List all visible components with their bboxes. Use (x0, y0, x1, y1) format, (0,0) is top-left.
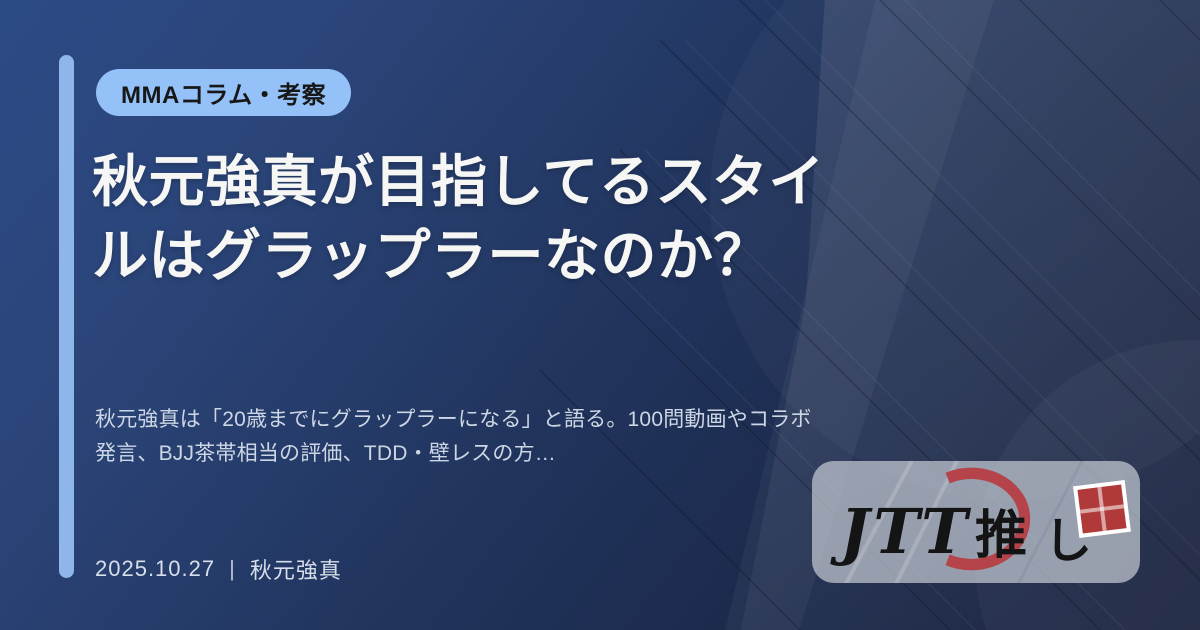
left-accent-bar (59, 55, 74, 578)
meta-separator: | (215, 556, 250, 582)
publish-date: 2025.10.27 (95, 556, 215, 582)
ogp-card: MMAコラム・考察 秋元強真が目指してるスタイルはグラップラーなのか？ 秋元強真… (0, 0, 1200, 630)
meta-row: 2025.10.27 | 秋元強真 (95, 553, 342, 585)
site-logo[interactable]: JTT 推 し (812, 461, 1140, 583)
author-name: 秋元強真 (250, 553, 342, 585)
logo-artwork: JTT 推 し (812, 461, 1140, 583)
page-title: 秋元強真が目指してるスタイルはグラップラーなのか？ (92, 145, 832, 294)
description-text: 秋元強真は「20歳までにグラップラーになる」と語る。100問動画やコラボ発言、B… (95, 403, 825, 471)
red-square-mark (1073, 480, 1131, 538)
content-column: MMAコラム・考察 秋元強真が目指してるスタイルはグラップラーなのか？ 秋元強真… (92, 0, 852, 630)
logo-text-jp: 推 (975, 506, 1027, 566)
category-badge[interactable]: MMAコラム・考察 (96, 69, 351, 116)
logo-text: JTT (830, 495, 971, 568)
